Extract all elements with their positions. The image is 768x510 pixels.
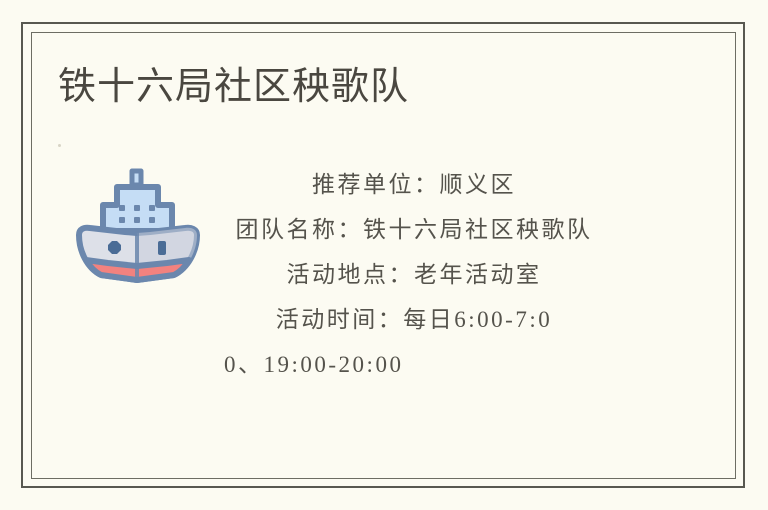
detail-row-team-name: 团队名称：铁十六局社区秧歌队	[216, 207, 612, 252]
location-label: 活动地点：	[287, 262, 415, 287]
recommender-label: 推荐单位：	[312, 172, 440, 197]
page-title: 铁十六局社区秧歌队	[58, 64, 409, 110]
location-value: 老年活动室	[414, 262, 542, 287]
team-info-card: 铁十六局社区秧歌队	[31, 32, 736, 479]
team-name-label: 团队名称：	[236, 217, 364, 242]
decorative-speck	[58, 144, 61, 147]
detail-row-location: 活动地点：老年活动室	[216, 252, 612, 297]
recommender-value: 顺义区	[440, 172, 517, 197]
team-name-value: 铁十六局社区秧歌队	[363, 217, 593, 242]
time-label: 活动时间：	[276, 307, 404, 332]
detail-row-recommender: 推荐单位：顺义区	[216, 162, 612, 207]
team-details: 推荐单位：顺义区 团队名称：铁十六局社区秧歌队 活动地点：老年活动室 活动时间：…	[216, 162, 612, 387]
time-value-second: 0、19:00-20:00	[224, 352, 403, 377]
time-value-first: 每日6:00-7:0	[403, 307, 552, 332]
ship-icon	[70, 165, 206, 287]
detail-row-time: 活动时间：每日6:00-7:0	[216, 297, 612, 342]
detail-row-time-continued: 0、19:00-20:00	[224, 342, 612, 387]
